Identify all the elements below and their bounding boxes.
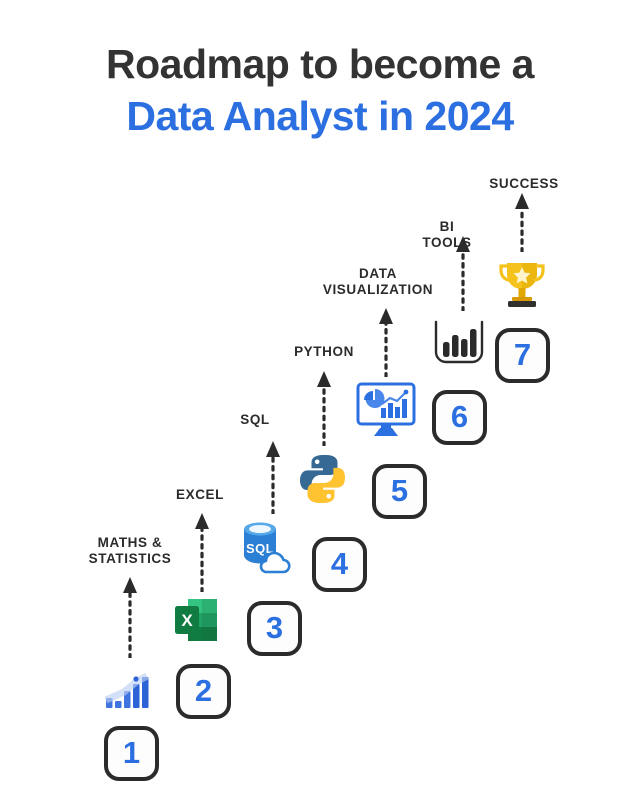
python-icon: [296, 452, 350, 506]
roadmap-infographic: Roadmap to become a Data Analyst in 2024…: [0, 0, 640, 800]
step-number-box-6[interactable]: 6: [432, 390, 487, 445]
step-number-box-2[interactable]: 2: [176, 664, 231, 719]
arrow-step-4: [316, 368, 332, 446]
arrow-step-5: [378, 305, 394, 377]
arrow-step-7: [514, 190, 530, 252]
page-title: Roadmap to become a Data Analyst in 2024: [0, 38, 640, 142]
step-label-2: EXCEL: [176, 487, 224, 503]
step-number-label-4: 4: [331, 548, 348, 579]
power-bi-icon: [432, 318, 486, 368]
sql-database-cloud-icon: SQL: [232, 515, 294, 577]
trophy-icon: [496, 258, 548, 314]
step-label-3: SQL: [240, 412, 270, 428]
step-number-box-7[interactable]: 7: [495, 328, 550, 383]
svg-text:X: X: [181, 611, 193, 630]
arrow-step-1: [122, 574, 138, 658]
step-number-label-3: 3: [266, 612, 283, 643]
step-number-box-3[interactable]: 3: [247, 601, 302, 656]
step-label-4: PYTHON: [294, 344, 354, 360]
arrow-step-3: [265, 438, 281, 514]
step-number-box-5[interactable]: 5: [372, 464, 427, 519]
title-line-secondary: Data Analyst in 2024: [0, 90, 640, 142]
excel-icon: X: [170, 593, 224, 647]
step-label-6: BI TOOLS: [422, 219, 471, 251]
step-label-1: MATHS & STATISTICS: [89, 535, 172, 567]
step-number-label-6: 6: [451, 401, 468, 432]
step-number-label-1: 1: [123, 737, 140, 768]
step-number-box-1[interactable]: 1: [104, 726, 159, 781]
arrow-step-2: [194, 510, 210, 592]
data-visualization-monitor-icon: [355, 382, 417, 438]
step-label-5: DATA VISUALIZATION: [323, 266, 433, 298]
step-number-label-7: 7: [514, 339, 531, 370]
title-line-primary: Roadmap to become a: [0, 38, 640, 90]
bar-chart-icon: [100, 660, 154, 714]
step-number-box-4[interactable]: 4: [312, 537, 367, 592]
step-label-7: SUCCESS: [489, 176, 558, 192]
step-number-label-2: 2: [195, 675, 212, 706]
step-number-label-5: 5: [391, 475, 408, 506]
